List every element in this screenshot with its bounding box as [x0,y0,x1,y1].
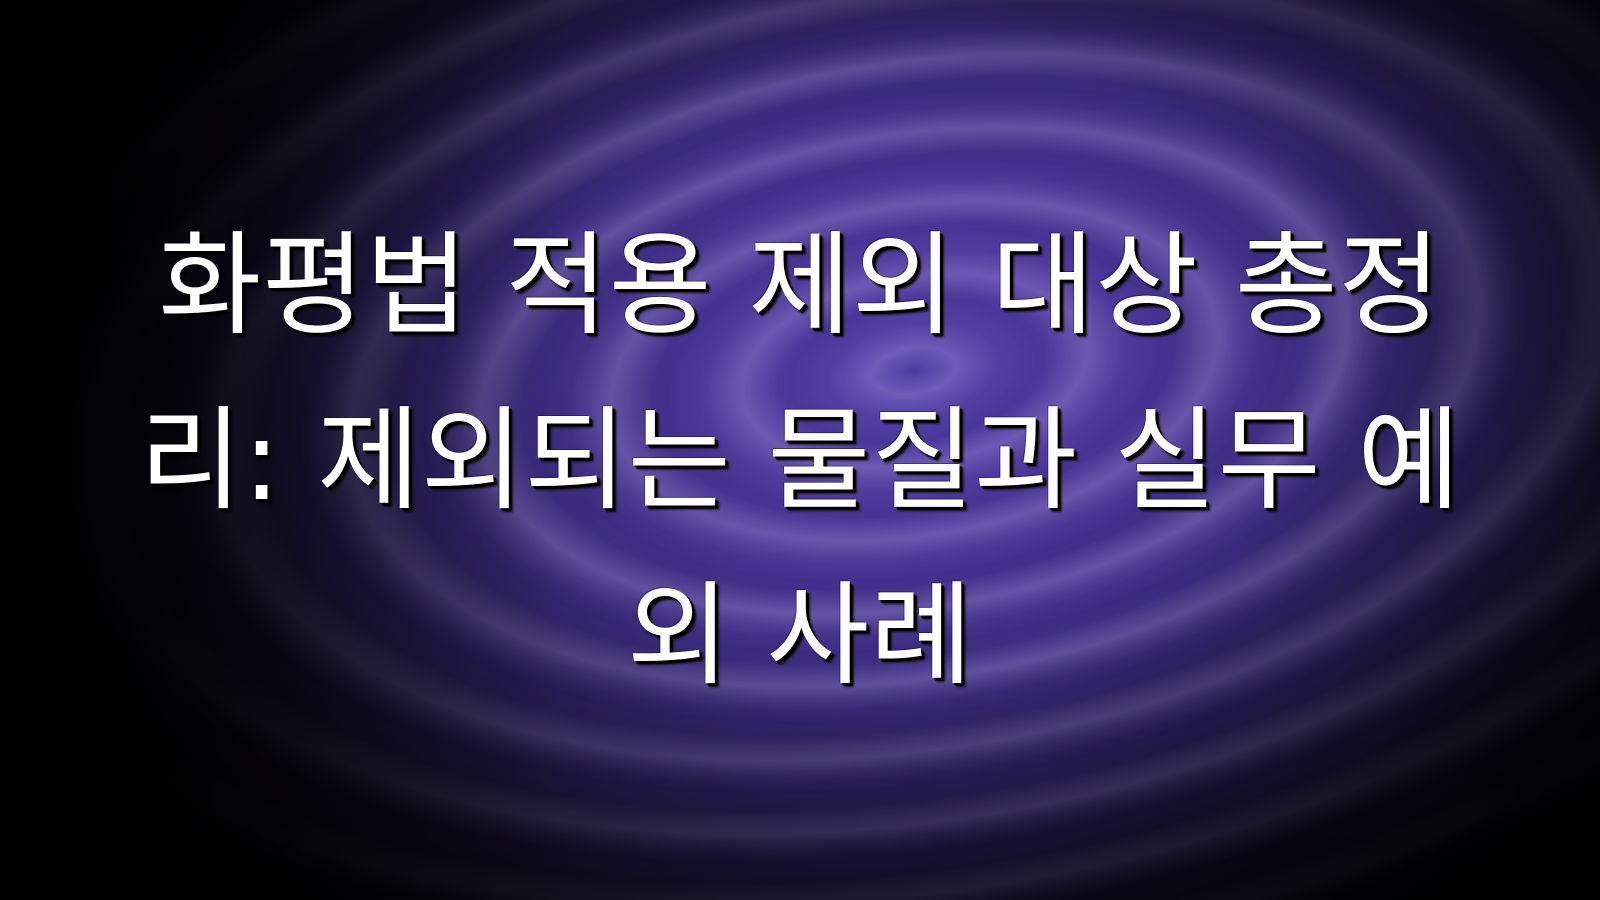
slide-stage: 화평법 적용 제외 대상 총정 리: 제외되는 물질과 실무 예 외 사례 [0,0,1600,900]
background-top-right-shadow [0,0,1600,900]
slide-background-canvas [0,0,1600,900]
